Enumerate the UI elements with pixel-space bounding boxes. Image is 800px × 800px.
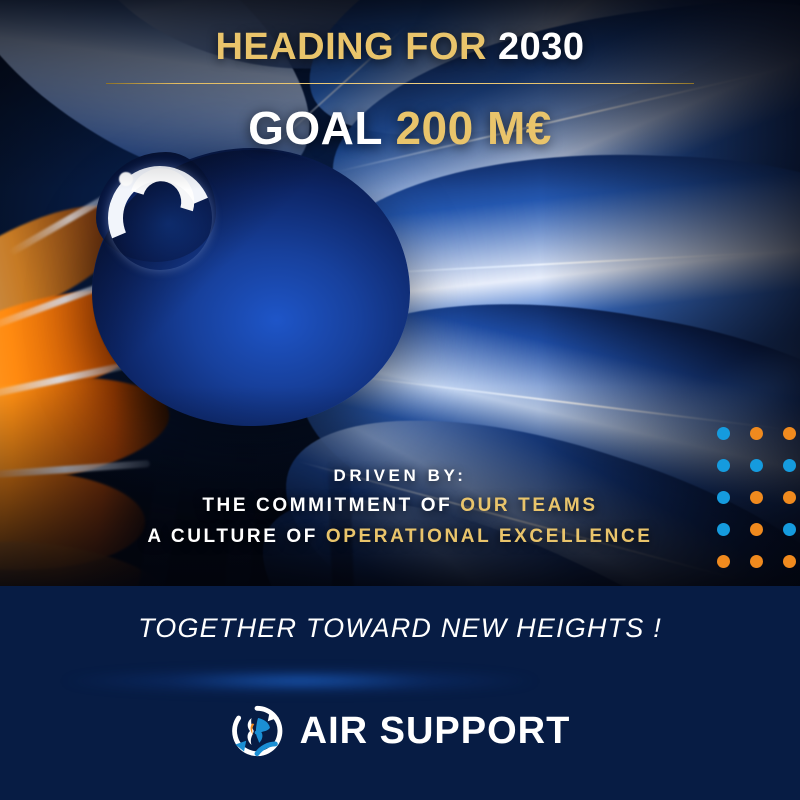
decorative-dot-blue bbox=[717, 427, 730, 440]
headline-primary: HEADING FOR 2030 bbox=[0, 26, 800, 69]
globe-arrows-logo-icon bbox=[230, 704, 284, 758]
marketing-poster: HEADING FOR 2030 GOAL 200 M€ DRIVEN BY: … bbox=[0, 0, 800, 800]
brand-logo-text: AIR SUPPORT bbox=[300, 710, 571, 753]
decorative-dot-orange bbox=[783, 555, 796, 568]
headline-primary-year: 2030 bbox=[498, 26, 585, 68]
headline-primary-gold: HEADING FOR bbox=[215, 26, 498, 68]
headline-block: HEADING FOR 2030 GOAL 200 M€ bbox=[0, 0, 800, 155]
decorative-dot-orange bbox=[750, 427, 763, 440]
headline-secondary: GOAL 200 M€ bbox=[0, 101, 800, 155]
decorative-dot-orange bbox=[717, 555, 730, 568]
driven-by-block: DRIVEN BY: THE COMMITMENT OF OUR TEAMS A… bbox=[0, 466, 800, 548]
footer-panel: TOGETHER TOWARD NEW HEIGHTS ! bbox=[0, 586, 800, 800]
decorative-dot-orange bbox=[750, 555, 763, 568]
tagline-text: TOGETHER TOWARD NEW HEIGHTS ! bbox=[0, 613, 800, 644]
driven-by-line-1: THE COMMITMENT OF OUR TEAMS bbox=[0, 495, 800, 517]
gold-divider-rule bbox=[106, 83, 694, 84]
driven-by-title: DRIVEN BY: bbox=[0, 466, 800, 486]
headline-secondary-white: GOAL bbox=[248, 102, 395, 154]
driven-line1-gold: OUR TEAMS bbox=[460, 495, 597, 516]
footer-light-streak bbox=[60, 668, 540, 694]
driven-line2-white: A CULTURE OF bbox=[147, 526, 325, 547]
driven-by-line-2: A CULTURE OF OPERATIONAL EXCELLENCE bbox=[0, 526, 800, 548]
headline-secondary-amount: 200 M€ bbox=[395, 102, 551, 154]
brand-logo: AIR SUPPORT bbox=[0, 704, 800, 758]
driven-line2-gold: OPERATIONAL EXCELLENCE bbox=[326, 526, 653, 547]
driven-line1-white: THE COMMITMENT OF bbox=[202, 495, 460, 516]
decorative-dot-orange bbox=[783, 427, 796, 440]
